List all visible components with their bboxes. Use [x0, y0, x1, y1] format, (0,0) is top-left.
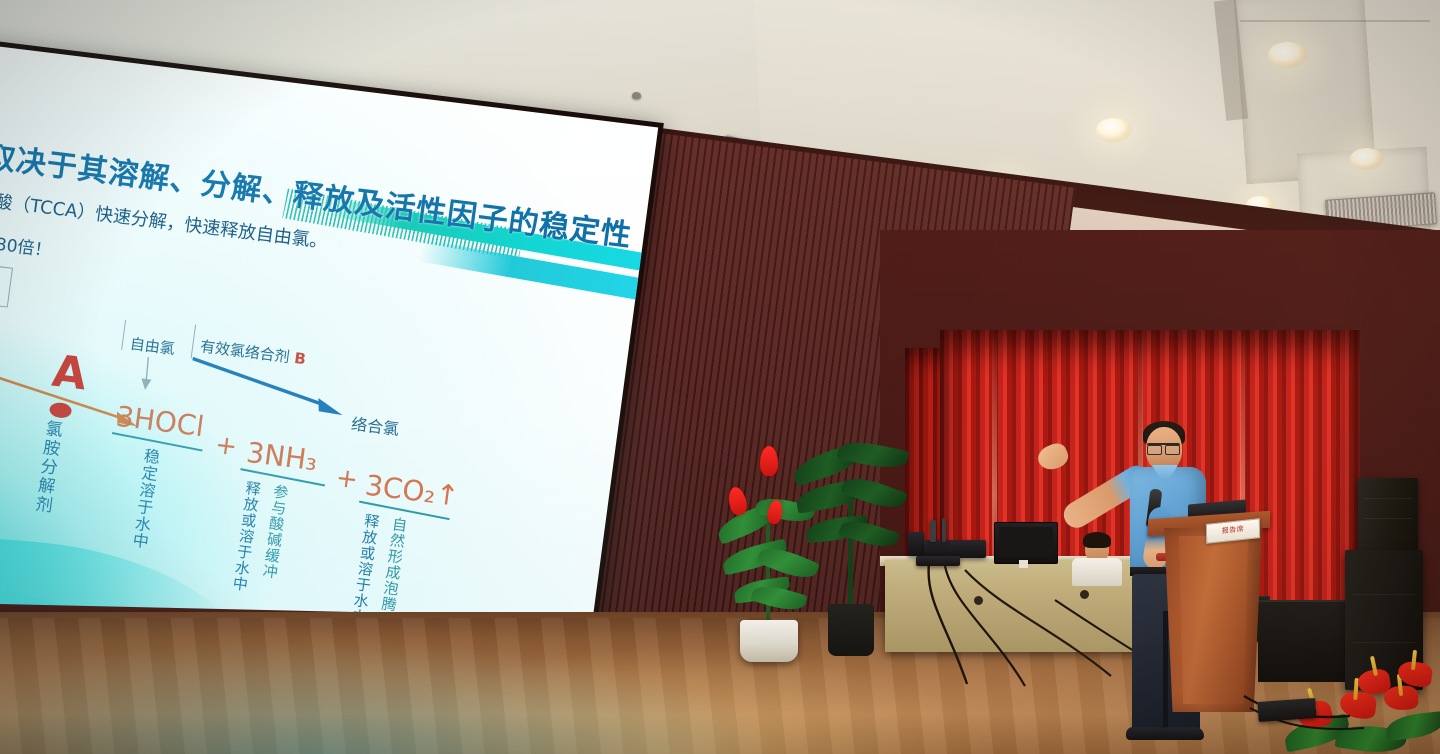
- plant-pot-white: [740, 620, 798, 662]
- ceiling-downlight-1: [1268, 42, 1308, 68]
- product-2-caption-a: 释放或溶于水中: [230, 480, 260, 593]
- speaker-grille-line-4: [1353, 642, 1415, 643]
- plant-pot-dark: [828, 604, 874, 656]
- structural-formula: N–Cl + 6H₂O: [0, 318, 3, 376]
- free-chlorine-label: 自由氯: [129, 333, 176, 359]
- auditorium-photo: 消毒效果取决于其溶解、分解、释放及活性因子的稳定性 剂 A 使三氯异氰尿酸（TC…: [0, 0, 1440, 754]
- speaker-grille-line-3: [1353, 594, 1415, 595]
- ceiling-downlight-3: [1350, 148, 1384, 170]
- ceiling-downlight-2: [1096, 118, 1132, 142]
- product-3-caption-a: 释放或溶于水中: [349, 512, 379, 625]
- monitor-screen: [999, 527, 1053, 557]
- presenter-leg-gap: [1163, 611, 1168, 731]
- pa-speaker-upper: [1358, 478, 1418, 550]
- speaker-grille-line-2: [1364, 518, 1412, 519]
- podium-nameplate-text: 报告席: [1207, 519, 1259, 540]
- divider-complexing-agent: [191, 325, 196, 359]
- complexed-chlorine-label: 络合氯: [350, 410, 401, 440]
- ceiling-seam-2: [1240, 20, 1430, 22]
- control-desk-monitor: [994, 522, 1058, 564]
- product-plus-1: +: [213, 430, 239, 462]
- podium-front-panel: [1176, 536, 1248, 704]
- combined-chlorine-box: 结合氯: [0, 255, 13, 308]
- plant-stem-1: [766, 520, 770, 628]
- down-arrow-free-chlorine: [138, 356, 156, 391]
- formula-water: 6H₂O: [0, 336, 3, 375]
- equipment-unit-1: [908, 532, 924, 556]
- glasses-icon: [1147, 443, 1180, 453]
- reaction-arrow-blue: [187, 354, 352, 421]
- product-3-caption-b: 自然形成泡腾: [379, 516, 407, 613]
- floor-equipment-box: [1257, 698, 1316, 722]
- complexing-agent-letter: B: [293, 349, 307, 368]
- product-2-caption-b: 参与酸碱缓冲: [260, 483, 288, 580]
- plant-flower-1: [760, 446, 778, 476]
- equipment-antenna-2: [942, 518, 946, 542]
- presenter-shoe-right: [1160, 727, 1204, 740]
- product-plus-2: +: [334, 463, 360, 495]
- catalyst-letter-a: A: [49, 346, 90, 401]
- divider-free-chlorine: [121, 320, 126, 350]
- speaker-grille-line-1: [1364, 498, 1412, 499]
- smoke-detector-icon: [632, 92, 641, 99]
- equipment-antenna: [930, 520, 936, 542]
